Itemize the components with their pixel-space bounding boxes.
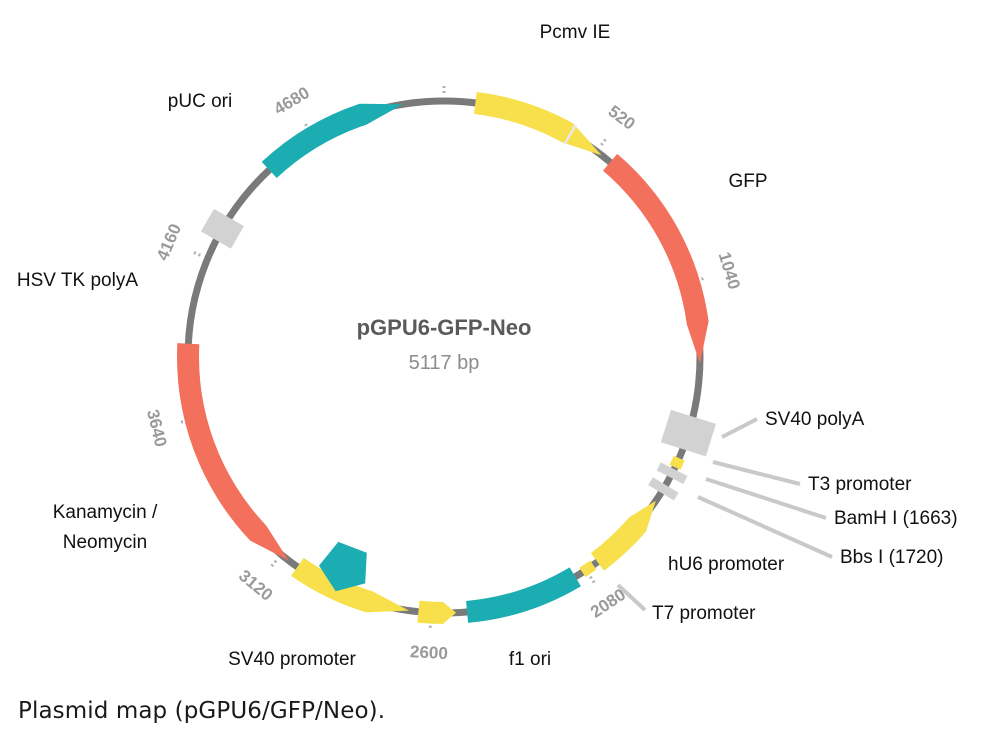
feature-unlabeled-small-arrow[interactable] [417,601,456,624]
feature-labels: Pcmv IEGFPSV40 polyAT3 promoterBamH I (1… [17,22,958,670]
label-sv40-promoter: SV40 promoter [228,649,356,670]
plasmid-map-svg: 5201040208026003120364041604680 Pcmv IEG… [0,0,982,700]
label-pcmv-ie: Pcmv IE [540,22,611,43]
label-f1-ori: f1 ori [509,649,551,670]
figure-caption: Plasmid map (pGPU6/GFP/Neo). [18,698,385,724]
tick-label: 4160 [153,221,185,263]
tick-mark [590,577,594,584]
label-hsv-tk-polya: HSV TK polyA [17,270,138,291]
label-bbsi-1720: Bbs I (1720) [840,547,944,568]
feature-bbsi-1720[interactable] [648,477,678,500]
feature-hu6-promoter[interactable] [591,501,656,571]
label-kanamycin-neomycin: Kanamycin /Neomycin [53,502,158,553]
label-sv40-polya: SV40 polyA [765,409,865,430]
leader-line-bbsi-1720 [698,497,832,557]
tick-label: 3120 [235,566,276,605]
label-hu6-promoter: hU6 promoter [668,554,785,575]
feature-hsv-tk-polya[interactable] [201,209,244,249]
label-t3-promoter: T3 promoter [808,474,912,495]
label-gfp: GFP [728,171,767,192]
tick-mark [193,252,200,255]
tick-label: 3640 [143,408,171,449]
plasmid-map-page: 5201040208026003120364041604680 Pcmv IEG… [0,0,982,744]
plasmid-size: 5117 bp [409,352,480,374]
leader-line-sv40-polya [722,419,757,437]
tick-mark [271,561,276,567]
center-text: pGPU6-GFP-Neo 5117 bp [357,315,532,374]
label-t7-promoter: T7 promoter [652,603,756,624]
tick-mark [601,139,606,145]
tick-label: 2600 [410,642,449,663]
tick-label: 1040 [715,250,744,292]
feature-sv40-polya[interactable] [661,410,716,456]
tick-label: 4680 [271,83,313,119]
tick-label: 520 [605,102,639,134]
leader-line-t3-promoter [713,462,800,484]
label-bamhi-1663: BamH I (1663) [834,508,958,529]
label-puc-ori: pUC ori [168,91,232,112]
feature-kanamycin-neomycin[interactable] [177,343,289,560]
feature-f1-ori[interactable] [466,567,581,623]
feature-pcmv-ie[interactable] [474,92,602,155]
plasmid-name: pGPU6-GFP-Neo [357,315,532,340]
feature-gfp[interactable] [603,154,709,364]
